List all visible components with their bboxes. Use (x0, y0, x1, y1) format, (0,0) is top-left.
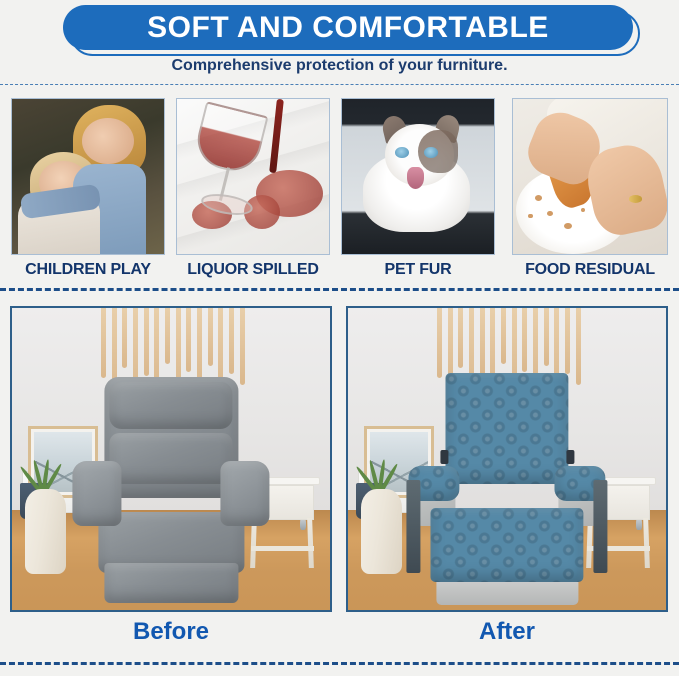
divider-middle (0, 288, 679, 291)
feature-label-row: CHILDREN PLAY LIQUOR SPILLED PET FUR FOO… (0, 261, 679, 283)
header-subtitle: Comprehensive protection of your furnitu… (0, 57, 679, 75)
divider-bottom (0, 662, 679, 665)
feature-tile-liquor-spilled (176, 98, 330, 255)
after-scene (348, 308, 666, 610)
pet-fur-photo (342, 99, 494, 254)
before-panel (10, 306, 332, 612)
feature-label-children-play: CHILDREN PLAY (11, 261, 165, 279)
after-panel (346, 306, 668, 612)
feature-tile-food-residual (512, 98, 668, 255)
feature-label-food-residual: FOOD RESIDUAL (512, 261, 668, 279)
side-stool (25, 489, 66, 574)
liquor-spilled-photo (177, 99, 329, 254)
banner-fill: SOFT AND COMFORTABLE (63, 5, 633, 50)
product-infographic: SOFT AND COMFORTABLE Comprehensive prote… (0, 0, 679, 676)
feature-label-liquor-spilled: LIQUOR SPILLED (176, 261, 330, 279)
feature-tile-row (0, 98, 679, 258)
banner-title: SOFT AND COMFORTABLE (147, 11, 549, 45)
food-residual-photo (513, 99, 667, 254)
recliner-with-slipcover (408, 377, 605, 610)
divider-top (0, 84, 679, 85)
before-after-section: Before After (0, 306, 679, 662)
header-banner: SOFT AND COMFORTABLE (0, 2, 679, 56)
side-stool (361, 489, 402, 574)
feature-tile-children-play (11, 98, 165, 255)
potted-plant (358, 435, 396, 495)
feature-label-pet-fur: PET FUR (341, 261, 495, 279)
before-scene (12, 308, 330, 610)
after-label: After (346, 618, 668, 646)
recliner-uncovered (72, 377, 269, 610)
before-label: Before (10, 618, 332, 646)
feature-tile-pet-fur (341, 98, 495, 255)
potted-plant (22, 435, 60, 495)
children-play-photo (12, 99, 164, 254)
